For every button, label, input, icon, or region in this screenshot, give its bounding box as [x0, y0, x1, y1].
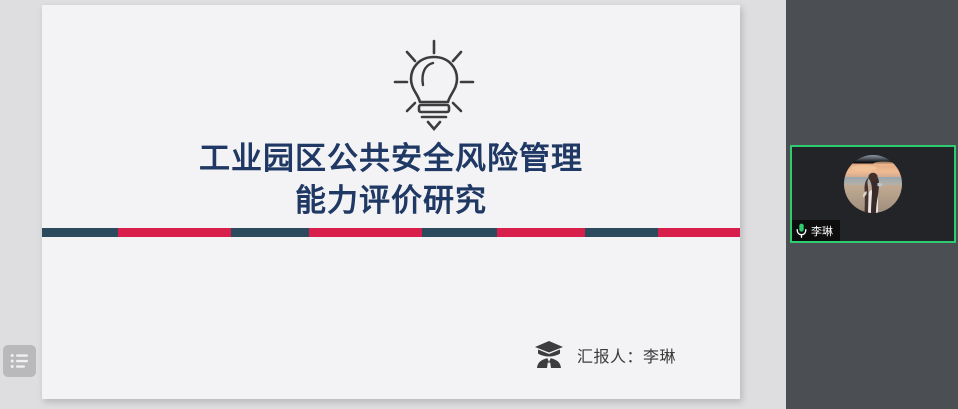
- avatar: [844, 155, 902, 213]
- participant-video-panel: 李琳: [786, 0, 958, 409]
- divider-segment: [309, 228, 422, 237]
- screen-share-window: 工业园区公共安全风险管理 能力评价研究 汇报人：李琳: [0, 0, 958, 409]
- divider-segment: [118, 228, 231, 237]
- slide-title-line-1: 工业园区公共安全风险管理: [42, 138, 740, 180]
- presenter-label: 汇报人：李琳: [577, 343, 676, 367]
- slide-title-line-2: 能力评价研究: [42, 180, 740, 222]
- divider-segment: [422, 228, 497, 237]
- lightbulb-icon: [389, 37, 479, 137]
- slide-divider-bar: [42, 228, 740, 237]
- slide-title: 工业园区公共安全风险管理 能力评价研究: [42, 138, 740, 222]
- presentation-slide[interactable]: 工业园区公共安全风险管理 能力评价研究 汇报人：李琳: [42, 5, 740, 399]
- divider-segment: [497, 228, 585, 237]
- microphone-icon[interactable]: [796, 223, 807, 238]
- outline-list-glyph: [10, 353, 30, 369]
- participant-name-label: 李琳: [811, 223, 833, 239]
- divider-segment: [42, 228, 118, 237]
- outline-list-icon[interactable]: [3, 345, 36, 377]
- participant-video-tile[interactable]: 李琳: [790, 145, 956, 243]
- divider-segment: [658, 228, 740, 237]
- divider-segment: [585, 228, 658, 237]
- participant-name-chip: 李琳: [792, 220, 840, 241]
- graduate-avatar-icon: [532, 338, 566, 372]
- presenter-credit: 汇报人：李琳: [532, 338, 676, 372]
- divider-segment: [231, 228, 309, 237]
- shared-content-area: 工业园区公共安全风险管理 能力评价研究 汇报人：李琳: [0, 0, 786, 409]
